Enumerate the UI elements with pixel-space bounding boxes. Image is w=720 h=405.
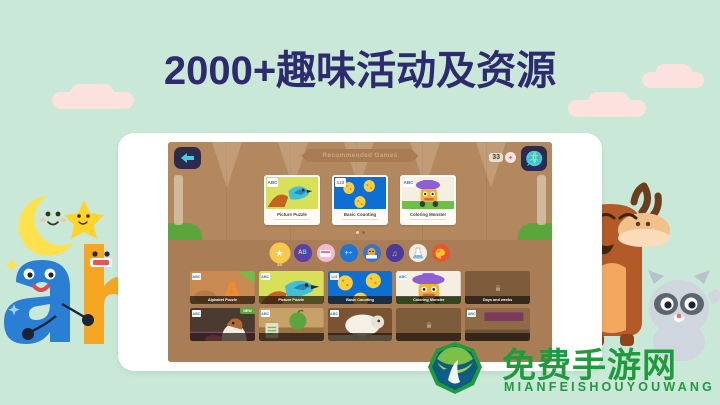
category-item-math[interactable]: +÷ <box>340 244 358 262</box>
app-screen: Recommended Games 33 ✦ <box>168 142 552 362</box>
watermark-logo-icon <box>424 340 486 398</box>
game-card[interactable]: ABC NEW <box>190 308 255 341</box>
poster-canvas: 2000+趣味活动及资源 <box>0 0 720 405</box>
game-card[interactable]: ABC Coloring Monster <box>396 271 461 304</box>
lock-icon <box>426 321 432 328</box>
game-title: Coloring Monster <box>396 296 461 304</box>
game-card-locked[interactable] <box>396 308 461 341</box>
game-grid: ABC Alphabet Puzzle ABC <box>190 271 530 341</box>
card-title: Coloring Monster <box>402 212 454 217</box>
abc-tag-icon: ABC <box>398 273 407 280</box>
game-card[interactable]: ABC <box>328 308 393 341</box>
category-item-art[interactable] <box>432 244 450 262</box>
category-item-science[interactable] <box>409 244 427 262</box>
category-item-speech[interactable] <box>317 244 335 262</box>
page-title: 2000+趣味活动及资源 <box>0 38 720 96</box>
paint-icon <box>432 244 450 262</box>
recommended-cards-row: ABC Picture Puzzle <box>168 175 552 225</box>
abc-tag-icon: ABC <box>330 310 339 317</box>
game-title <box>259 333 324 341</box>
abc-tag-icon: ABC <box>192 273 201 280</box>
abc-tag-icon: 123 <box>335 178 346 187</box>
left-characters-group <box>0 186 132 346</box>
abc-tag-icon: ABC <box>467 310 476 317</box>
game-title: Picture Puzzle <box>259 296 324 304</box>
game-title <box>328 333 393 341</box>
game-title <box>190 333 255 341</box>
abc-tag-icon: ABC <box>261 273 270 280</box>
abc-tag-icon: ABC <box>403 178 414 187</box>
globe-icon <box>526 150 543 167</box>
category-item-reading[interactable] <box>363 244 381 262</box>
carousel-dot[interactable] <box>362 231 365 234</box>
star-icon: ★ <box>271 244 289 262</box>
game-card[interactable]: 123 Basic Counting <box>328 271 393 304</box>
letters-icon: AB <box>294 244 312 262</box>
recommended-panel: Recommended Games 33 ✦ <box>168 142 552 240</box>
watermark: 免费手游网 MIANFEISHOUYOUWANG <box>424 338 716 400</box>
abc-tag-icon: ABC <box>267 178 278 187</box>
tablet-device: Recommended Games 33 ✦ <box>118 133 602 371</box>
star-icon: ✦ <box>505 152 516 163</box>
watermark-pinyin: MIANFEISHOUYOUWANG <box>504 380 715 394</box>
abc-tag-icon: ABC <box>192 310 201 317</box>
category-row: ★ All AB +÷ <box>168 244 552 267</box>
music-icon: ♫ <box>386 244 404 262</box>
recommended-card[interactable]: ABC Picture Puzzle <box>264 175 320 225</box>
card-title: Picture Puzzle <box>266 212 318 217</box>
game-card[interactable]: ABC <box>465 308 530 341</box>
game-card[interactable]: ABC Alphabet Puzzle <box>190 271 255 304</box>
book-icon <box>363 244 381 262</box>
category-item-letters[interactable]: AB <box>294 244 312 262</box>
counter-value: 33 <box>489 153 503 162</box>
back-button[interactable] <box>174 147 201 169</box>
recommended-card[interactable]: ABC <box>400 175 456 225</box>
lock-icon <box>495 284 501 291</box>
category-item-all[interactable]: ★ All <box>271 244 289 267</box>
science-icon <box>409 244 427 262</box>
category-item-music[interactable]: ♫ <box>386 244 404 262</box>
carousel-dot[interactable] <box>356 231 359 234</box>
panel-title: Recommended Games <box>306 149 413 162</box>
coin-counter: 33 ✦ <box>489 152 516 163</box>
language-button[interactable] <box>521 146 547 171</box>
card-title: Basic Counting <box>334 212 386 217</box>
math-icon: +÷ <box>340 244 358 262</box>
abc-tag-icon: 123 <box>330 273 339 280</box>
category-label: All <box>271 263 289 267</box>
game-title: Basic Counting <box>328 296 393 304</box>
recommended-card[interactable]: 123 Basic Cou <box>332 175 388 225</box>
mouth-icon <box>317 244 335 262</box>
game-title: Days and weeks <box>465 296 530 304</box>
back-arrow-icon <box>180 152 195 164</box>
card-subline <box>342 219 378 221</box>
game-card[interactable]: ABC Picture Puzzle <box>259 271 324 304</box>
card-subline <box>274 219 310 221</box>
card-subline <box>410 219 446 221</box>
new-badge: NEW <box>240 308 254 314</box>
carousel-dots[interactable] <box>168 231 552 234</box>
game-card[interactable]: ABC <box>259 308 324 341</box>
game-card-locked[interactable]: Days and weeks <box>465 271 530 304</box>
abc-tag-icon: ABC <box>261 310 270 317</box>
game-title: Alphabet Puzzle <box>190 296 255 304</box>
